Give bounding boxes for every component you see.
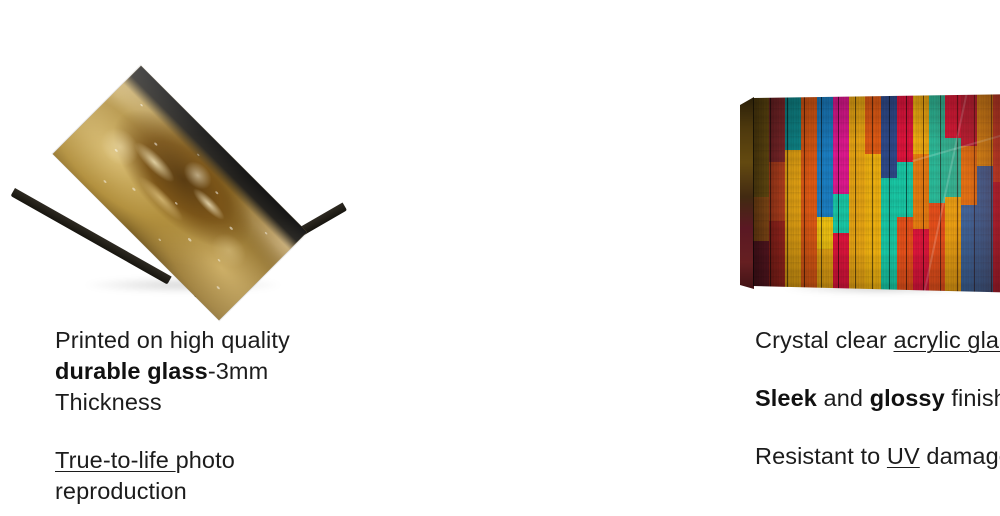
- feature-column-ready-to-hang: Thewallartistry Ready-to-hang out of the…: [700, 0, 1000, 516]
- text-run: Printed on high quality: [55, 327, 290, 353]
- feature-column-glass-print: Printed on high quality durable glass-3m…: [0, 0, 360, 516]
- feature-paragraph-glass-durability: Printed on high quality durable glass-3m…: [55, 325, 340, 418]
- text-run-bold: durable glass: [55, 358, 208, 384]
- feature-banner: Printed on high quality durable glass-3m…: [0, 0, 1000, 516]
- feature-column-acrylic-canvas: Crystal clear acrylic glass Sleek and gl…: [360, 0, 690, 516]
- glass-print-rose-photo: [13, 98, 347, 288]
- feature-paragraph-glass-reproduction: True-to-life photo reproduction: [55, 445, 340, 507]
- feature-text-glass-print: Printed on high quality durable glass-3m…: [55, 325, 340, 507]
- text-run-underline: True-to-life: [55, 447, 176, 473]
